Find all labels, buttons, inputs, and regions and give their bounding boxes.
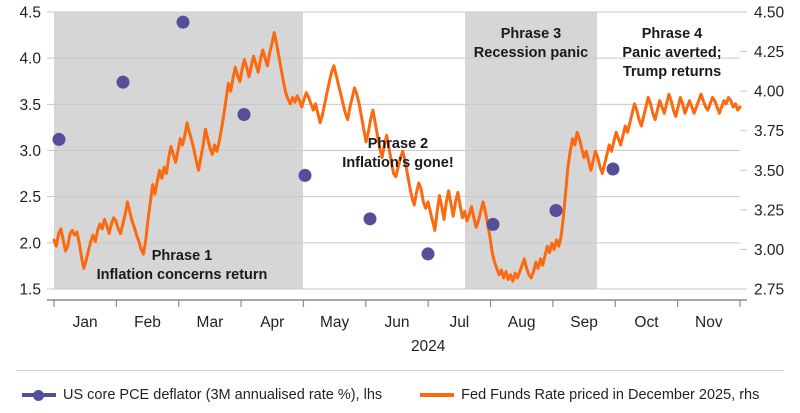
pce-data-point — [177, 16, 190, 29]
right-axis-tick-labels: 2.753.003.253.503.754.004.254.50 — [740, 5, 785, 299]
line-dot-marker-icon — [22, 388, 56, 402]
right-tick-label: 2.75 — [754, 282, 784, 299]
pce-data-point — [487, 218, 500, 231]
pce-data-point — [53, 133, 66, 146]
pce-data-point — [299, 169, 312, 182]
legend-label-pce: US core PCE deflator (3M annualised rate… — [63, 387, 382, 403]
legend-item-pce[interactable]: US core PCE deflator (3M annualised rate… — [22, 387, 382, 403]
line-marker-icon — [420, 393, 454, 397]
pce-data-point — [550, 204, 563, 217]
right-tick-label: 4.50 — [754, 5, 785, 22]
right-tick-label: 3.25 — [754, 202, 784, 219]
x-tick-label: Jun — [385, 314, 410, 331]
right-tick-label: 3.50 — [754, 163, 785, 180]
chart-container: 1.52.02.53.03.54.04.5 2.753.003.253.503.… — [0, 0, 800, 413]
left-tick-label: 1.5 — [19, 282, 41, 299]
legend-label-fedfunds: Fed Funds Rate priced in December 2025, … — [461, 387, 759, 403]
left-tick-label: 4.0 — [19, 51, 41, 68]
right-tick-label: 3.75 — [754, 123, 784, 140]
pce-data-point — [117, 76, 130, 89]
x-tick-label: Sep — [570, 314, 598, 331]
left-tick-label: 2.0 — [19, 235, 41, 252]
x-tick-label: Nov — [695, 314, 723, 331]
legend-divider — [16, 370, 784, 371]
annotation-phase4-line-1: Panic averted; — [622, 45, 721, 61]
annotation-phase3-line-1: Recession panic — [474, 45, 588, 61]
x-tick-label: Jan — [73, 314, 98, 331]
annotation-phase2-line-1: Inflation's gone! — [342, 155, 453, 171]
right-tick-label: 4.25 — [754, 44, 784, 61]
x-tick-label: Oct — [634, 314, 659, 331]
pce-data-point — [364, 212, 377, 225]
pce-data-point — [238, 108, 251, 121]
legend-item-fedfunds[interactable]: Fed Funds Rate priced in December 2025, … — [420, 387, 759, 403]
x-tick-label: Aug — [508, 314, 536, 331]
x-tick-label: Feb — [134, 314, 161, 331]
pce-data-point — [422, 247, 435, 260]
right-tick-label: 3.00 — [754, 242, 785, 259]
x-axis: JanFebMarAprMayJunJulAugSepOctNov2024 — [47, 300, 747, 355]
left-tick-label: 4.5 — [19, 5, 41, 22]
chart-legend: US core PCE deflator (3M annualised rate… — [0, 378, 800, 412]
left-tick-label: 3.5 — [19, 97, 41, 114]
annotation-phase2-line-0: Phrase 2 — [368, 136, 428, 152]
annotation-phase3-line-0: Phrase 3 — [501, 26, 561, 42]
left-axis-tick-labels: 1.52.02.53.03.54.04.5 — [19, 5, 41, 299]
x-tick-label: May — [320, 314, 350, 331]
right-tick-label: 4.00 — [754, 84, 785, 101]
annotation-phase1-line-1: Inflation concerns return — [97, 267, 268, 283]
annotation-phase4-line-2: Trump returns — [623, 64, 721, 80]
x-tick-label: Mar — [197, 314, 224, 331]
pce-data-point — [607, 162, 620, 175]
left-tick-label: 2.5 — [19, 189, 41, 206]
chart-svg: 1.52.02.53.03.54.04.5 2.753.003.253.503.… — [0, 0, 800, 413]
annotation-phase4-line-0: Phrase 4 — [642, 26, 702, 42]
x-tick-label: Apr — [260, 314, 284, 331]
annotation-phase1-line-0: Phrase 1 — [152, 248, 212, 264]
x-tick-label: Jul — [449, 314, 469, 331]
x-axis-year-label: 2024 — [411, 338, 446, 355]
left-tick-label: 3.0 — [19, 143, 41, 160]
